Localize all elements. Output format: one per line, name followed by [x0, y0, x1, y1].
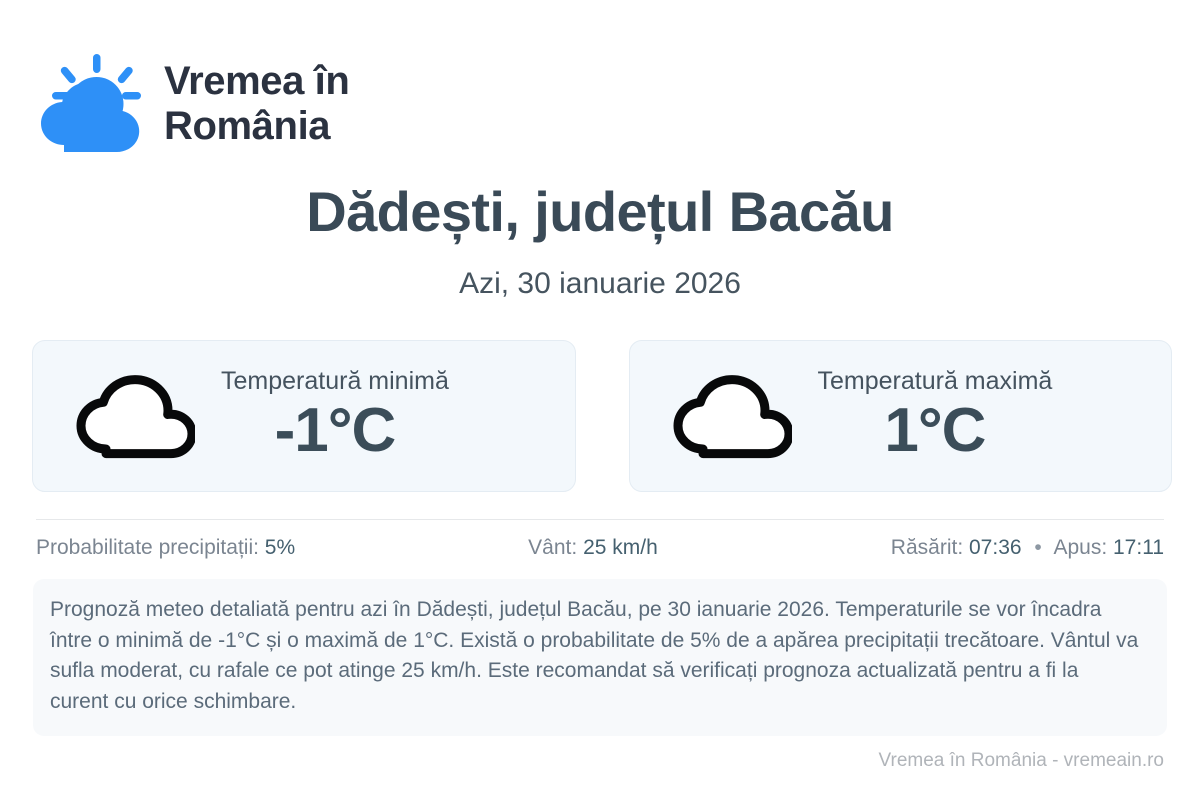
- sun-times-stat: Răsărit: 07:36 • Apus: 17:11: [891, 534, 1164, 561]
- max-temperature-value: 1°C: [884, 398, 985, 465]
- max-temperature-card: Temperatură maximă 1°C: [629, 340, 1173, 492]
- cloud-icon: [670, 373, 792, 459]
- footer-attribution: Vremea în România - vremeain.ro: [0, 750, 1164, 772]
- wind-label: Vânt:: [528, 536, 577, 559]
- page-title: Dădești, județul Bacău: [0, 181, 1200, 244]
- min-temperature-label: Temperatură minimă: [221, 366, 449, 396]
- precipitation-label: Probabilitate precipitații:: [36, 536, 259, 559]
- forecast-description-text: Prognoză meteo detaliată pentru azi în D…: [50, 595, 1139, 718]
- stats-row: Probabilitate precipitații: 5% Vânt: 25 …: [36, 534, 1164, 561]
- min-temperature-card: Temperatură minimă -1°C: [32, 340, 576, 492]
- min-temperature-value: -1°C: [275, 398, 396, 465]
- wind-stat: Vânt: 25 km/h: [295, 534, 891, 561]
- cloud-icon: [73, 373, 195, 459]
- precipitation-value: 5%: [265, 536, 295, 559]
- page-date: Azi, 30 ianuarie 2026: [0, 266, 1200, 302]
- brand-logo[interactable]: Vremea în România: [36, 52, 349, 156]
- stats-divider: [36, 519, 1164, 520]
- precipitation-stat: Probabilitate precipitații: 5%: [36, 534, 295, 561]
- forecast-description-panel: Prognoză meteo detaliată pentru azi în D…: [33, 579, 1167, 736]
- sunset-value: 17:11: [1113, 536, 1164, 559]
- wind-value: 25 km/h: [583, 536, 658, 559]
- temperature-cards: Temperatură minimă -1°C Temperatură maxi…: [32, 340, 1172, 492]
- weather-page: Vremea în România Dădești, județul Bacău…: [0, 0, 1200, 800]
- brand-name: Vremea în România: [164, 59, 349, 149]
- max-temperature-label: Temperatură maximă: [818, 366, 1053, 396]
- separator-bullet: •: [1027, 536, 1048, 559]
- sunrise-label: Răsărit:: [891, 536, 963, 559]
- sun-behind-cloud-icon: [36, 52, 144, 156]
- sunset-label: Apus:: [1053, 536, 1107, 559]
- sunrise-value: 07:36: [969, 536, 1022, 559]
